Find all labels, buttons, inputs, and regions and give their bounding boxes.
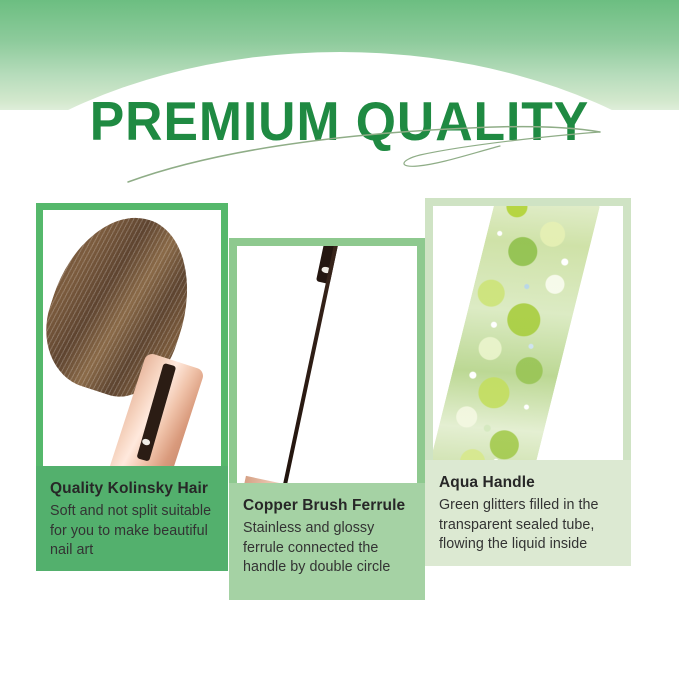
card-heading: Quality Kolinsky Hair [50, 479, 214, 498]
card-text-panel: Aqua Handle Green glitters filled in the… [425, 460, 631, 566]
card-text-panel: Quality Kolinsky Hair Soft and not split… [36, 466, 228, 571]
card-heading: Aqua Handle [439, 473, 617, 492]
ferrule-seam-shape [278, 246, 340, 483]
page-title: PREMIUM QUALITY [0, 92, 679, 158]
kolinsky-brush-head-photo [43, 210, 221, 466]
feature-card-aqua-handle: Aqua Handle Green glitters filled in the… [425, 198, 631, 566]
card-heading: Copper Brush Ferrule [243, 496, 411, 515]
card-image-frame [425, 198, 631, 460]
card-image-frame [36, 203, 228, 466]
feature-card-copper-ferrule: Copper Brush Ferrule Stainless and gloss… [229, 238, 425, 600]
feature-card-kolinsky-hair: Quality Kolinsky Hair Soft and not split… [36, 203, 228, 565]
copper-ferrule-photo [237, 246, 417, 483]
ferrule-slot-shape [136, 364, 176, 462]
card-body: Soft and not split suitable for you to m… [50, 502, 214, 561]
page-title-text: PREMIUM QUALITY [20, 92, 658, 150]
glitter-tube-shape [433, 206, 601, 460]
long-ferrule-shape [241, 246, 380, 483]
card-image-frame [229, 238, 425, 483]
glitter-specks-shape [433, 206, 601, 460]
card-body: Stainless and glossy ferrule connected t… [243, 519, 411, 578]
card-text-panel: Copper Brush Ferrule Stainless and gloss… [229, 483, 425, 600]
card-body: Green glitters filled in the transparent… [439, 496, 617, 555]
aqua-glitter-handle-photo [433, 206, 623, 460]
